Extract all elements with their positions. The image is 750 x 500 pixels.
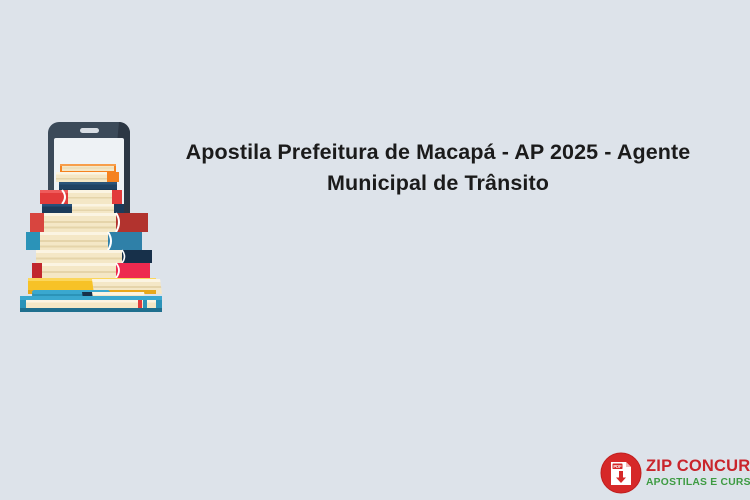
brand-logo[interactable]: PDF ZIP CONCURSOS APOSTILAS E CURSOS: [600, 450, 745, 496]
book-cream-upper: [56, 172, 119, 182]
book-base: [20, 296, 162, 312]
book-red-upper: [40, 190, 122, 204]
title-block: Apostila Prefeitura de Macapá - AP 2025 …: [160, 137, 716, 199]
brand-name: ZIP CONCURSOS: [646, 458, 750, 475]
stack-of-books-illustration: [12, 120, 170, 312]
book-darkred-wide: [30, 213, 148, 232]
page-root: Apostila Prefeitura de Macapá - AP 2025 …: [0, 0, 750, 500]
pdf-download-circle-icon: PDF: [600, 452, 642, 494]
page-title: Apostila Prefeitura de Macapá - AP 2025 …: [160, 137, 716, 199]
book-teal-wide: [26, 232, 142, 250]
book-crimson-wide: [32, 263, 150, 278]
brand-tagline: APOSTILAS E CURSOS: [646, 478, 750, 488]
svg-text:PDF: PDF: [613, 464, 622, 469]
brand-logo-text: ZIP CONCURSOS APOSTILAS E CURSOS: [646, 458, 750, 488]
book-orange-top: [60, 164, 116, 172]
book-navy-thin: [42, 204, 124, 213]
book-navy-wide: [36, 250, 152, 263]
